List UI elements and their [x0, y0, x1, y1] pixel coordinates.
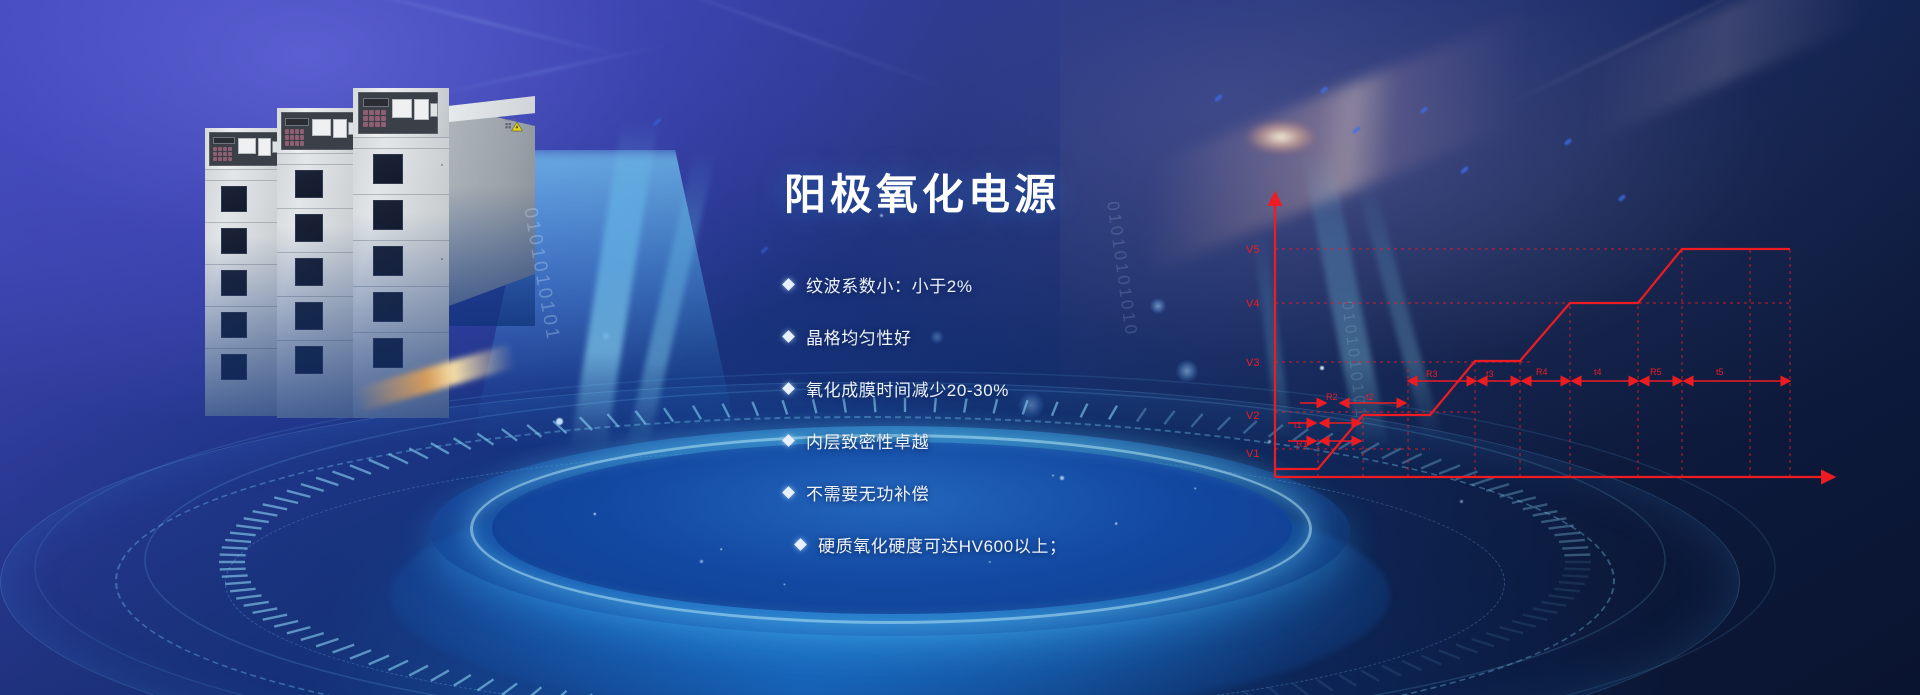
particle-streak: [1564, 138, 1573, 146]
cabinet-seam: [353, 332, 449, 333]
panel-label-card: [414, 99, 429, 120]
svg-text:R2: R2: [1326, 392, 1338, 402]
cabinet-seam: [353, 194, 449, 195]
cabinet-seam: [277, 252, 365, 253]
list-item: 晶格均匀性好: [784, 324, 1304, 349]
panel-label-card: [392, 99, 412, 118]
anodizing-power-supply-banner: HV-750 0101010101 01010101010 0101010101: [0, 0, 1920, 695]
list-item-label: 纹波系数小：小于2%: [806, 272, 973, 297]
diamond-bullet-icon: [782, 278, 795, 291]
panel-keypad[interactable]: [285, 129, 304, 146]
list-item: 硬质氧化硬度可达HV600以上；: [796, 532, 1304, 557]
panel-keypad[interactable]: [213, 147, 232, 161]
svg-text:R5: R5: [1650, 367, 1662, 377]
bokeh-dot: [600, 330, 612, 342]
panel-display: [285, 118, 309, 126]
lens-flare-core: [1246, 120, 1316, 154]
svg-text:R3: R3: [1426, 369, 1438, 379]
svg-text:t2: t2: [1366, 392, 1374, 402]
panel-breaker[interactable]: [430, 103, 438, 117]
panel-display: [213, 137, 235, 144]
cabinet-vent-door: [295, 170, 323, 198]
sparkle-dot: [1460, 500, 1463, 503]
chart-time-gridlines: [1318, 249, 1790, 477]
control-panel[interactable]: [281, 112, 355, 150]
particle-streak: [1460, 166, 1469, 175]
cabinet-middle: [277, 118, 365, 418]
panel-label-card: [333, 119, 347, 138]
chart-segment-labels: R1 t1 R2 t2 R3 t3 R4 t4 R5 t5: [1294, 367, 1724, 449]
list-item-label: 氧化成膜时间减少20-30%: [806, 376, 1009, 401]
cabinet-seam: [277, 164, 365, 165]
cabinet-screw: [441, 164, 443, 166]
panel-label-card: [238, 138, 256, 154]
cabinet-vent-door: [295, 346, 323, 374]
particle-streak: [760, 246, 769, 255]
voltage-ramp-svg: V5 V4 V3 V2 V1: [1230, 185, 1850, 485]
list-item: 纹波系数小：小于2%: [784, 272, 1304, 297]
cabinet-vent-door: [221, 186, 247, 212]
cabinet-vent-door: [373, 338, 403, 368]
list-item-label: 晶格均匀性好: [806, 324, 912, 349]
cabinet-seam: [353, 148, 449, 149]
list-item: 内层致密性卓越: [784, 428, 1304, 453]
panel-label-card: [258, 138, 271, 156]
voltage-ramp-chart: V5 V4 V3 V2 V1: [1230, 185, 1850, 485]
light-ray: [630, 0, 950, 90]
panel-display: [363, 98, 389, 107]
cabinet-seam: [353, 240, 449, 241]
sparkle-dot: [556, 418, 563, 425]
cabinet-vent-door: [373, 200, 403, 230]
high-voltage-warning-icon: HV-750: [505, 116, 533, 132]
cabinet-vent-door: [221, 312, 247, 338]
svg-text:t3: t3: [1486, 369, 1494, 379]
diamond-bullet-icon: [782, 434, 795, 447]
light-ray: [334, 0, 625, 58]
list-item: 不需要无功补偿: [784, 480, 1304, 505]
cabinet-vent-door: [373, 246, 403, 276]
diamond-bullet-icon: [782, 382, 795, 395]
list-item: 氧化成膜时间减少20-30%: [784, 376, 1304, 401]
diamond-bullet-icon: [782, 330, 795, 343]
chart-level-gridlines: [1275, 249, 1790, 449]
cabinet-vent-door: [221, 228, 247, 254]
lens-flare-streak-secondary: [1560, 0, 1890, 144]
chart-voltage-curve: [1275, 249, 1790, 469]
cabinet-vent-door: [295, 302, 323, 330]
svg-text:t4: t4: [1594, 367, 1602, 377]
panel-keypad[interactable]: [363, 110, 386, 127]
sparkle-dot: [700, 560, 703, 563]
page-title: 阳极氧化电源: [784, 170, 1304, 220]
cabinet-seam: [277, 208, 365, 209]
cabinet-vent-door: [373, 292, 403, 322]
list-item-label: 不需要无功补偿: [806, 480, 929, 505]
cabinet-vent-door: [373, 154, 403, 184]
cabinet-seam: [277, 296, 365, 297]
panel-label-card: [312, 119, 331, 136]
cabinet-vent-door: [221, 354, 247, 380]
list-item-label: 硬质氧化硬度可达HV600以上；: [818, 532, 1067, 557]
particle-streak: [652, 117, 662, 126]
cabinet-seam: [277, 340, 365, 341]
cabinet-seam: [353, 286, 449, 287]
control-panel[interactable]: [358, 92, 438, 134]
svg-text:t5: t5: [1716, 367, 1724, 377]
diamond-bullet-icon: [782, 486, 795, 499]
light-ray: [423, 44, 668, 97]
cabinet-screw: [441, 258, 443, 260]
svg-text:HV-750: HV-750: [505, 118, 516, 122]
cabinet-vent-door: [295, 214, 323, 242]
cabinet-vent-door: [221, 270, 247, 296]
particle-streak: [1214, 94, 1223, 103]
svg-text:R4: R4: [1536, 367, 1548, 377]
banner-text-block: 阳极氧化电源 纹波系数小：小于2% 晶格均匀性好 氧化成膜时间减少20-30% …: [784, 170, 1304, 584]
control-panel[interactable]: [209, 132, 279, 166]
list-item-label: 内层致密性卓越: [806, 428, 929, 453]
cabinet-vent-door: [295, 258, 323, 286]
diamond-bullet-icon: [794, 538, 807, 551]
cabinet-side-face: [449, 106, 535, 306]
feature-bullet-list: 纹波系数小：小于2% 晶格均匀性好 氧化成膜时间减少20-30% 内层致密性卓越…: [784, 272, 1304, 557]
